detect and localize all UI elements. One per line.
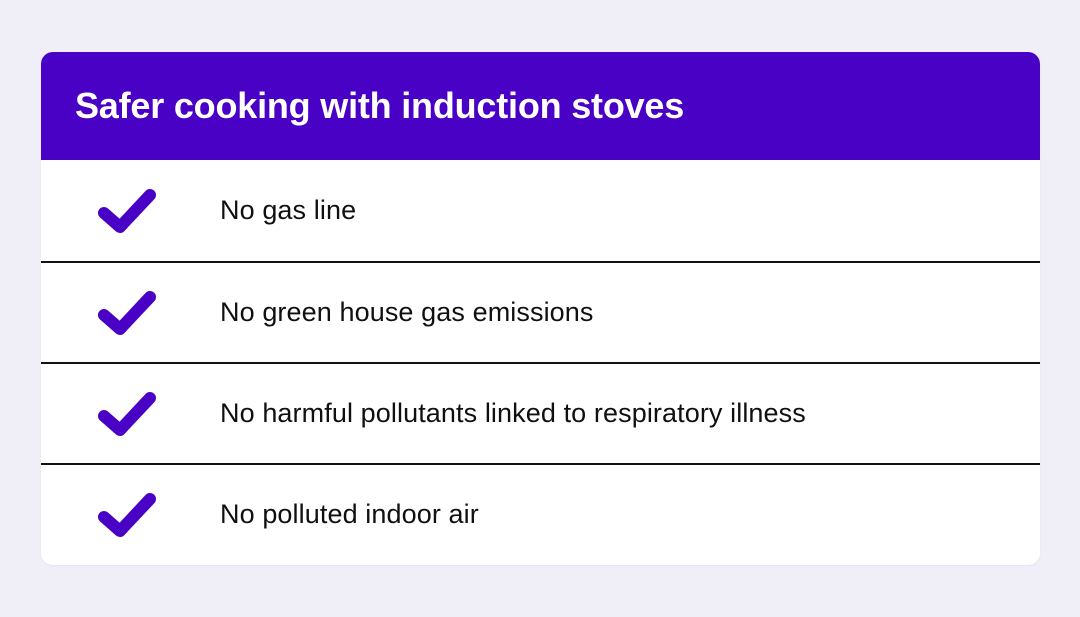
page-title: Safer cooking with induction stoves xyxy=(75,86,684,126)
list-item: No gas line xyxy=(41,160,1040,261)
benefits-card: Safer cooking with induction stoves No g… xyxy=(41,52,1040,565)
list-item-label: No polluted indoor air xyxy=(220,498,479,530)
page-root: Safer cooking with induction stoves No g… xyxy=(0,0,1080,617)
card-header: Safer cooking with induction stoves xyxy=(41,52,1040,160)
checkmark-cell xyxy=(41,189,220,233)
list-item-label: No green house gas emissions xyxy=(220,296,594,328)
list-item-label: No harmful pollutants linked to respirat… xyxy=(220,397,806,429)
checkmark-icon xyxy=(98,392,156,436)
list-item-label: No gas line xyxy=(220,194,356,226)
checkmark-cell xyxy=(41,291,220,335)
list-item: No green house gas emissions xyxy=(41,261,1040,362)
checkmark-cell xyxy=(41,392,220,436)
list-item: No harmful pollutants linked to respirat… xyxy=(41,362,1040,463)
checkmark-icon xyxy=(98,189,156,233)
checkmark-icon xyxy=(98,291,156,335)
checkmark-icon xyxy=(98,493,156,537)
benefits-list: No gas line No green house gas emissions… xyxy=(41,160,1040,564)
list-item: No polluted indoor air xyxy=(41,463,1040,564)
checkmark-cell xyxy=(41,493,220,537)
